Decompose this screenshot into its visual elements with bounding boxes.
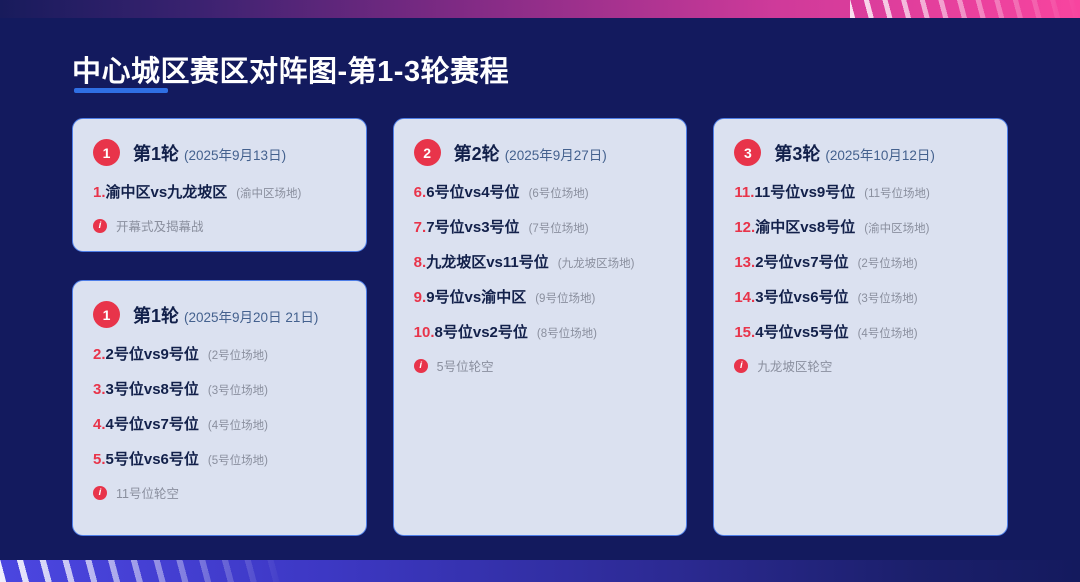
round-title: 第1轮(2025年9月13日) (133, 140, 286, 166)
match-row[interactable]: 15.4号位vs5号位(4号位场地) (734, 321, 989, 342)
round-note-text: 5号位轮空 (437, 356, 494, 375)
match-teams: 6号位vs4号位 (426, 181, 519, 202)
match-teams: 2号位vs9号位 (106, 343, 199, 364)
round-card-header: 1第1轮(2025年9月20日 21日) (93, 301, 348, 328)
round-note: i开幕式及揭幕战 (93, 216, 348, 235)
match-teams: 9号位vs渝中区 (426, 286, 526, 307)
round-date: (2025年9月20日 21日) (184, 310, 318, 325)
round-date: (2025年9月27日) (505, 148, 607, 163)
match-row[interactable]: 5.5号位vs6号位(5号位场地) (93, 448, 348, 469)
match-teams: 渝中区vs九龙坡区 (106, 181, 228, 202)
match-row[interactable]: 11.11号位vs9号位(11号位场地) (734, 181, 989, 202)
match-number: 1. (93, 184, 106, 201)
match-venue: (2号位场地) (858, 255, 918, 271)
match-row[interactable]: 1.渝中区vs九龙坡区(渝中区场地) (93, 181, 348, 202)
match-number: 3. (93, 381, 106, 398)
round-card[interactable]: 1第1轮(2025年9月20日 21日)2.2号位vs9号位(2号位场地)3.3… (72, 280, 367, 536)
match-venue: (8号位场地) (537, 325, 597, 341)
round-label: 第1轮 (133, 306, 179, 326)
match-teams: 九龙坡区vs11号位 (426, 251, 549, 272)
round-number-badge: 2 (414, 139, 441, 166)
round-card[interactable]: 1第1轮(2025年9月13日)1.渝中区vs九龙坡区(渝中区场地)i开幕式及揭… (72, 118, 367, 252)
match-venue: (渝中区场地) (864, 220, 929, 236)
round-label: 第2轮 (454, 144, 500, 164)
match-row[interactable]: 6.6号位vs4号位(6号位场地) (414, 181, 669, 202)
info-icon: i (93, 219, 107, 233)
match-teams: 7号位vs3号位 (426, 216, 519, 237)
match-number: 12. (734, 219, 755, 236)
round-number-badge: 1 (93, 301, 120, 328)
match-venue: (九龙坡区场地) (558, 255, 635, 271)
match-teams: 2号位vs7号位 (755, 251, 848, 272)
match-venue: (7号位场地) (529, 220, 589, 236)
round-note: i九龙坡区轮空 (734, 356, 989, 375)
match-row[interactable]: 7.7号位vs3号位(7号位场地) (414, 216, 669, 237)
match-row[interactable]: 10.8号位vs2号位(8号位场地) (414, 321, 669, 342)
schedule-columns: 1第1轮(2025年9月13日)1.渝中区vs九龙坡区(渝中区场地)i开幕式及揭… (72, 118, 1008, 536)
round-note-text: 开幕式及揭幕战 (116, 216, 204, 235)
match-number: 4. (93, 416, 106, 433)
match-venue: (11号位场地) (864, 185, 930, 201)
round-title: 第2轮(2025年9月27日) (454, 140, 607, 166)
top-decorative-band (0, 0, 1080, 18)
match-teams: 5号位vs6号位 (106, 448, 199, 469)
round-note: i11号位轮空 (93, 483, 348, 502)
match-teams: 渝中区vs8号位 (755, 216, 855, 237)
schedule-column: 1第1轮(2025年9月13日)1.渝中区vs九龙坡区(渝中区场地)i开幕式及揭… (72, 118, 367, 536)
match-row[interactable]: 9.9号位vs渝中区(9号位场地) (414, 286, 669, 307)
match-venue: (4号位场地) (858, 325, 918, 341)
match-number: 8. (414, 254, 427, 271)
match-row[interactable]: 2.2号位vs9号位(2号位场地) (93, 343, 348, 364)
match-number: 7. (414, 219, 427, 236)
match-row[interactable]: 3.3号位vs8号位(3号位场地) (93, 378, 348, 399)
round-label: 第3轮 (774, 144, 820, 164)
round-card-header: 3第3轮(2025年10月12日) (734, 139, 989, 166)
match-teams: 4号位vs5号位 (755, 321, 848, 342)
match-venue: (2号位场地) (208, 347, 268, 363)
match-row[interactable]: 4.4号位vs7号位(4号位场地) (93, 413, 348, 434)
round-date: (2025年10月12日) (825, 148, 935, 163)
match-venue: (4号位场地) (208, 417, 268, 433)
round-note-text: 11号位轮空 (116, 483, 179, 502)
round-card-header: 2第2轮(2025年9月27日) (414, 139, 669, 166)
match-teams: 4号位vs7号位 (106, 413, 199, 434)
match-number: 11. (734, 184, 754, 201)
match-row[interactable]: 14.3号位vs6号位(3号位场地) (734, 286, 989, 307)
round-card[interactable]: 2第2轮(2025年9月27日)6.6号位vs4号位(6号位场地)7.7号位vs… (393, 118, 688, 536)
match-row[interactable]: 8.九龙坡区vs11号位(九龙坡区场地) (414, 251, 669, 272)
round-title: 第1轮(2025年9月20日 21日) (133, 302, 318, 328)
match-number: 15. (734, 324, 755, 341)
bottom-decorative-band (0, 560, 1080, 582)
schedule-column: 3第3轮(2025年10月12日)11.11号位vs9号位(11号位场地)12.… (713, 118, 1008, 536)
match-teams: 3号位vs6号位 (755, 286, 848, 307)
info-icon: i (414, 359, 428, 373)
match-venue: (6号位场地) (529, 185, 589, 201)
round-number-badge: 3 (734, 139, 761, 166)
title-underline (74, 88, 168, 93)
match-number: 13. (734, 254, 755, 271)
match-teams: 3号位vs8号位 (106, 378, 199, 399)
info-icon: i (734, 359, 748, 373)
match-teams: 11号位vs9号位 (754, 181, 855, 202)
round-date: (2025年9月13日) (184, 148, 286, 163)
match-number: 2. (93, 346, 106, 363)
round-note: i5号位轮空 (414, 356, 669, 375)
round-note-text: 九龙坡区轮空 (757, 356, 832, 375)
match-number: 6. (414, 184, 427, 201)
match-number: 9. (414, 289, 427, 306)
match-venue: (渝中区场地) (236, 185, 301, 201)
match-teams: 8号位vs2号位 (435, 321, 528, 342)
match-number: 14. (734, 289, 755, 306)
round-number-badge: 1 (93, 139, 120, 166)
page-title: 中心城区赛区对阵图-第1-3轮赛程 (72, 48, 509, 90)
round-card-header: 1第1轮(2025年9月13日) (93, 139, 348, 166)
match-row[interactable]: 12.渝中区vs8号位(渝中区场地) (734, 216, 989, 237)
match-number: 10. (414, 324, 435, 341)
round-label: 第1轮 (133, 144, 179, 164)
schedule-column: 2第2轮(2025年9月27日)6.6号位vs4号位(6号位场地)7.7号位vs… (393, 118, 688, 536)
bottom-stripe-pattern (0, 560, 290, 582)
match-row[interactable]: 13.2号位vs7号位(2号位场地) (734, 251, 989, 272)
match-number: 5. (93, 451, 106, 468)
round-title: 第3轮(2025年10月12日) (774, 140, 935, 166)
match-venue: (9号位场地) (535, 290, 595, 306)
top-stripe-pattern (850, 0, 1080, 18)
match-venue: (5号位场地) (208, 452, 268, 468)
match-venue: (3号位场地) (208, 382, 268, 398)
round-card[interactable]: 3第3轮(2025年10月12日)11.11号位vs9号位(11号位场地)12.… (713, 118, 1008, 536)
match-venue: (3号位场地) (858, 290, 918, 306)
info-icon: i (93, 486, 107, 500)
